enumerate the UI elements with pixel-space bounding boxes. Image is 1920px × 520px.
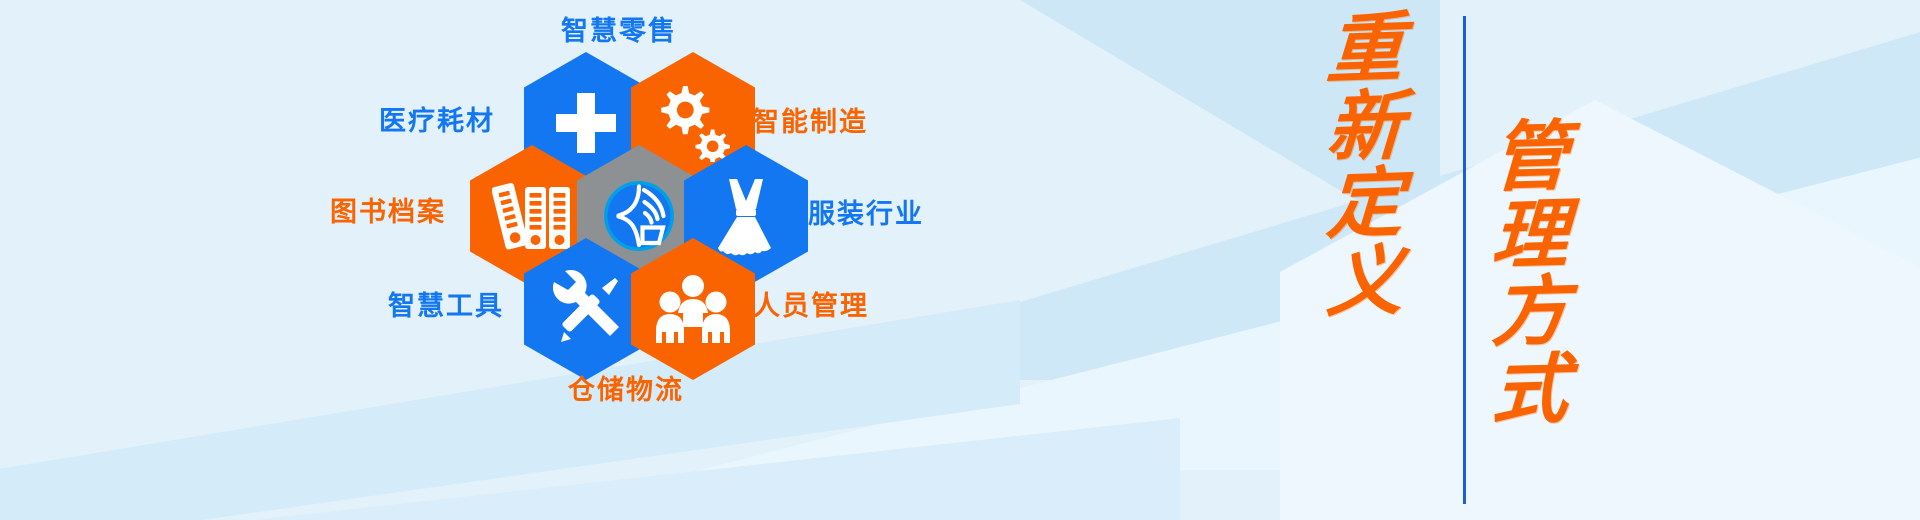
calligraphy-group: 重 新 定 义 管 理 方 式	[1300, 0, 1640, 520]
label-people: 人员管理	[753, 293, 869, 320]
calligraphy-char: 理	[1490, 195, 1570, 274]
people-group-icon	[653, 275, 733, 343]
calligraphy-column-right: 管 理 方 式	[1475, 118, 1585, 428]
wrench-screwdriver-icon	[547, 270, 625, 348]
brand-logo-icon	[602, 179, 676, 253]
calligraphy-char: 定	[1325, 164, 1405, 244]
calligraphy-char: 重	[1325, 9, 1405, 89]
calligraphy-char: 新	[1325, 86, 1405, 166]
label-retail: 智慧零售	[561, 18, 677, 45]
label-tools: 智慧工具	[388, 293, 504, 320]
promo-banner: 智慧零售 医疗耗材 智能制造 图书档案 服装行业 智慧工具 人员管理 仓储物流 …	[0, 0, 1920, 520]
gears-icon	[653, 84, 733, 162]
label-library: 图书档案	[330, 199, 446, 226]
calligraphy-char: 方	[1490, 272, 1570, 351]
dress-icon	[709, 176, 783, 256]
calligraphy-column-left: 重 新 定 义	[1310, 10, 1420, 320]
label-clothing: 服装行业	[808, 201, 924, 228]
calligraphy-char: 管	[1490, 117, 1570, 196]
label-logistics: 仓储物流	[568, 377, 684, 404]
file-binders-icon	[492, 179, 572, 253]
calligraphy-char: 义	[1325, 241, 1405, 321]
label-manufacturing: 智能制造	[752, 109, 868, 136]
label-medical: 医疗耗材	[379, 108, 495, 135]
calligraphy-divider	[1463, 16, 1466, 504]
calligraphy-char: 式	[1490, 350, 1570, 429]
medical-cross-icon	[550, 87, 622, 159]
